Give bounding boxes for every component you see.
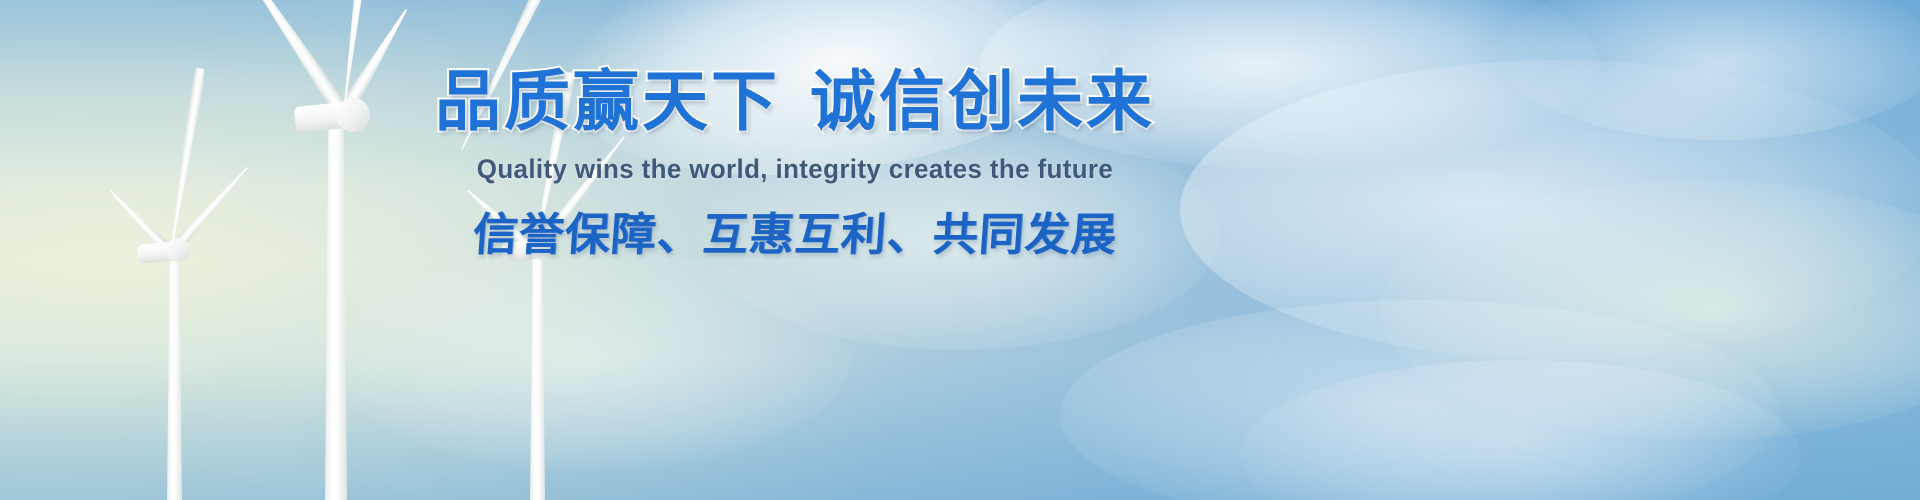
wind-turbine-icon [0, 0, 1920, 500]
turbine-hub [530, 236, 554, 260]
promotional-banner: 品质赢天下诚信创未来 Quality wins the world, integ… [0, 0, 1920, 500]
turbine-tower [530, 248, 545, 500]
turbine-blade [530, 71, 576, 245]
